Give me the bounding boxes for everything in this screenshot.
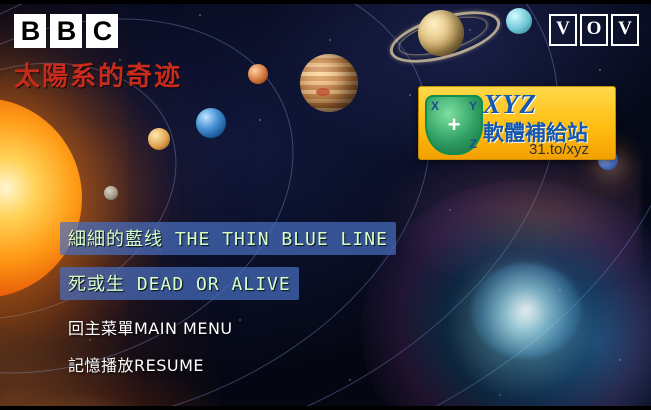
vov-letter-1: V: [549, 14, 577, 46]
planet-venus: [148, 128, 170, 150]
dvd-menu-action-list: 回主菜單MAIN MENU 記憶播放RESUME: [60, 312, 241, 386]
menu-item-resume[interactable]: 記憶播放RESUME: [60, 349, 212, 380]
bbc-logo: B B C: [14, 14, 118, 48]
vov-letter-2: O: [580, 14, 608, 46]
shield-label-y: Y: [469, 99, 477, 113]
nebula-core: [471, 263, 581, 358]
planet-earth: [196, 108, 226, 138]
xyz-watermark-url: 31.to/xyz: [529, 141, 589, 158]
dvd-menu-screen: B B C 太陽系的奇迹 V O V X Y Z + XYZ 軟體補給站 31.…: [0, 0, 651, 410]
menu-item-episode-1[interactable]: 細細的藍线 THE THIN BLUE LINE: [60, 222, 396, 255]
letterbox-bar-top: [0, 0, 651, 4]
shield-label-x: X: [431, 99, 439, 113]
planet-mercury: [104, 186, 118, 200]
menu-item-episode-2[interactable]: 死或生 DEAD OR ALIVE: [60, 267, 299, 300]
planet-saturn: [418, 10, 464, 56]
letterbox-bar-bottom: [0, 406, 651, 410]
shield-label-z: Z: [470, 137, 477, 151]
bbc-logo-letter-1: B: [14, 14, 46, 48]
bbc-logo-letter-2: B: [50, 14, 82, 48]
series-title: 太陽系的奇迹: [14, 56, 182, 93]
dvd-menu-episode-list: 細細的藍线 THE THIN BLUE LINE 死或生 DEAD OR ALI…: [60, 222, 460, 312]
shield-icon: X Y Z +: [425, 95, 483, 155]
xyz-site-watermark: X Y Z + XYZ 軟體補給站 31.to/xyz: [418, 86, 616, 160]
bbc-logo-letter-3: C: [86, 14, 118, 48]
vov-letter-3: V: [611, 14, 639, 46]
xyz-watermark-title: XYZ: [483, 89, 537, 120]
planet-jupiter: [300, 54, 358, 112]
planet-mars: [248, 64, 268, 84]
plus-icon: +: [448, 112, 461, 138]
planet-uranus: [506, 8, 532, 34]
jupiter-great-red-spot: [316, 88, 330, 96]
vov-channel-logo: V O V: [549, 14, 639, 46]
menu-item-main-menu[interactable]: 回主菜單MAIN MENU: [60, 312, 241, 343]
